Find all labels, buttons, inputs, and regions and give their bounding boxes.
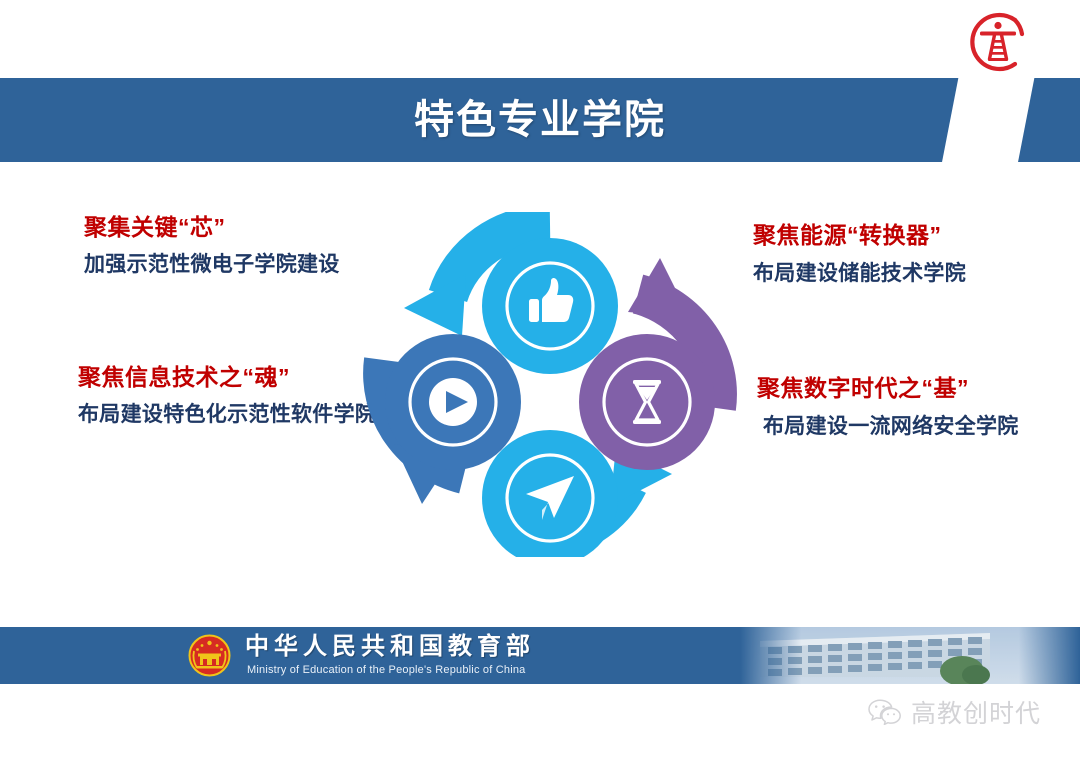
text-block-cyber: 聚焦数字时代之“基” 布局建设一流网络安全学院 [757, 375, 1057, 441]
block-body-energy: 布局建设储能技术学院 [753, 260, 1053, 288]
cycle-node-bottom [482, 430, 618, 557]
block-heading-energy: 聚焦能源“转换器” [753, 222, 1053, 250]
china-national-emblem-icon [188, 634, 231, 677]
block-heading-cyber: 聚焦数字时代之“基” [757, 375, 1057, 403]
watermark-text: 高教创时代 [911, 702, 1041, 727]
page-title: 特色专业学院 [0, 78, 1080, 162]
wechat-watermark: 高教创时代 [868, 698, 1041, 730]
footer-ministry-name-cn: 中华人民共和国教育部 [245, 635, 535, 659]
cycle-node-left [385, 334, 521, 470]
cycle-node-top [482, 238, 618, 374]
cycle-node-right [579, 334, 715, 470]
footer-ministry-name-en: Ministry of Education of the People's Re… [247, 665, 525, 676]
slide-canvas: 特色专业学院 聚集关键“芯” 加强示范性微电子学院建设 聚焦信息技术之“ [0, 0, 1080, 763]
text-block-energy: 聚焦能源“转换器” 布局建设储能技术学院 [753, 222, 1053, 288]
university-tower-emblem-icon [963, 7, 1033, 77]
block-body-cyber: 布局建设一流网络安全学院 [757, 413, 1057, 441]
header-band: 特色专业学院 [0, 78, 1080, 162]
wechat-icon [868, 698, 902, 730]
play-icon [429, 378, 477, 426]
campus-building-photo [740, 627, 1080, 684]
four-node-cycle-diagram [360, 212, 740, 557]
footer-band: 中华人民共和国教育部 Ministry of Education of the … [0, 627, 1080, 684]
